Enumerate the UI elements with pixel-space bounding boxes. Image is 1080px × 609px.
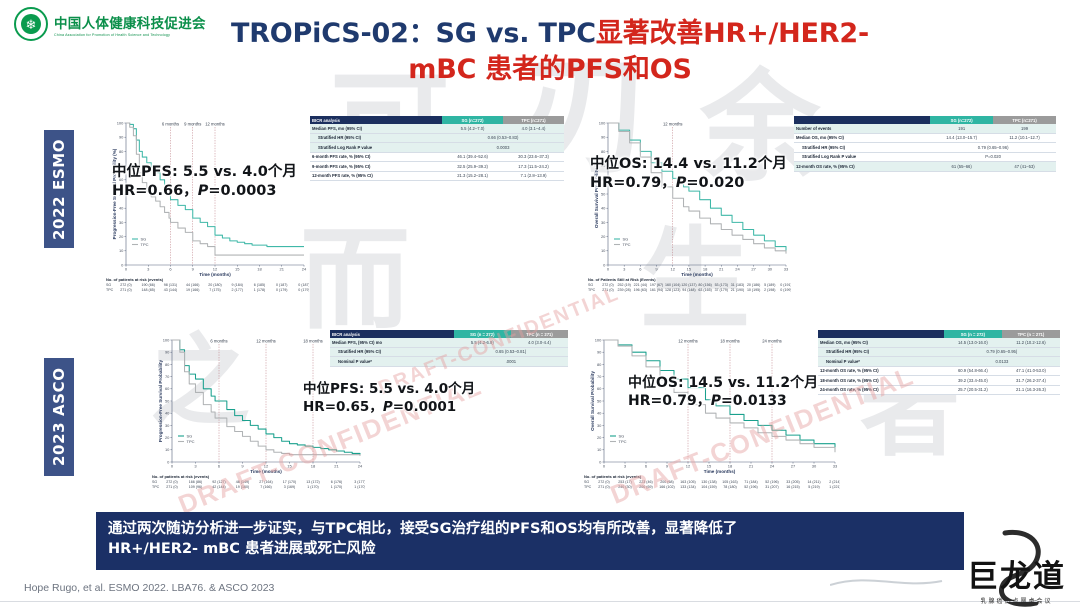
callout-esmo-pfs-line1: 中位PFS: 5.5 vs. 4.0个月 (112, 163, 297, 182)
table-header-cell: SG (n = 272) (454, 330, 511, 338)
svg-text:90: 90 (119, 135, 124, 140)
table-row: Nominal P value*0.0133 (818, 357, 1060, 366)
svg-text:40: 40 (119, 206, 124, 211)
svg-text:71 (184): 71 (184) (744, 480, 757, 484)
svg-text:272 (0): 272 (0) (602, 283, 613, 287)
brand-logo: 巨龙道 乳腺癌热点圆桌会议 (967, 562, 1066, 605)
svg-text:271 (0): 271 (0) (602, 288, 613, 292)
table-cell-value-span: .0001 (454, 357, 568, 366)
svg-text:24: 24 (302, 267, 307, 272)
svg-text:9: 9 (241, 464, 244, 469)
svg-text:33 (205): 33 (205) (786, 480, 799, 484)
table-row: Median PFS, mo (95% CI)5.5 (4.2–7.0)4.0 … (310, 124, 564, 133)
svg-text:9 months: 9 months (184, 122, 201, 127)
table-row-label: 24-month OS rate, % (95% CI) (818, 385, 944, 394)
svg-text:271 (0): 271 (0) (166, 485, 177, 489)
svg-text:10: 10 (601, 248, 606, 253)
svg-text:100: 100 (117, 120, 124, 125)
svg-text:0 (191): 0 (191) (780, 283, 791, 287)
table-row-label: 12-month OS rate, % (95% CI) (794, 162, 930, 171)
svg-text:100: 100 (163, 337, 170, 342)
svg-text:1 (178): 1 (178) (254, 288, 265, 292)
svg-text:12: 12 (213, 267, 218, 272)
svg-text:1 (170): 1 (170) (307, 485, 318, 489)
svg-text:20: 20 (165, 435, 170, 440)
svg-text:16 (215): 16 (215) (786, 485, 799, 489)
svg-text:271 (0): 271 (0) (120, 288, 131, 292)
svg-text:42 (144): 42 (144) (212, 485, 225, 489)
table-header-cell: SG (n=272) (442, 116, 503, 124)
organization-logo: ❄ 中国人体健康科技促进会 China Association for Prom… (14, 7, 206, 41)
table-cell-sg: 60.9 (54.8-66.4) (944, 366, 1002, 375)
table-row: 12-month OS rate, % (95% CI)60.9 (54.8-6… (818, 366, 1060, 375)
table-row: Stratified HR (95% CI)0.66 (0.53–0.83) (310, 133, 564, 142)
svg-text:80: 80 (165, 362, 170, 367)
svg-text:0: 0 (599, 459, 602, 464)
svg-text:24: 24 (770, 464, 775, 469)
svg-text:197 (67): 197 (67) (650, 283, 663, 287)
svg-text:70: 70 (165, 374, 170, 379)
svg-text:90: 90 (601, 135, 606, 140)
table-cell-tpc: 4.0 (3.0-4.4) (511, 338, 568, 347)
svg-text:100: 100 (599, 120, 606, 125)
green-circle-flower-logo-icon: ❄ (14, 7, 48, 41)
svg-text:15: 15 (687, 267, 692, 272)
svg-text:0: 0 (603, 262, 606, 267)
svg-text:TPC: TPC (619, 439, 627, 444)
svg-text:12 months: 12 months (205, 122, 225, 127)
table-cell-tpc: 47.1 (41.0-53.0) (1002, 366, 1060, 375)
brand-logo-text: 巨龙道 (967, 562, 1066, 593)
svg-text:24: 24 (358, 464, 363, 469)
table-cell-sg: 14.5 (13.0-16.0) (944, 338, 1002, 347)
svg-text:240 (30): 240 (30) (618, 485, 631, 489)
svg-text:TPC: TPC (152, 485, 160, 489)
svg-text:7 (175): 7 (175) (209, 288, 220, 292)
svg-text:30: 30 (119, 220, 124, 225)
svg-text:7 (166): 7 (166) (260, 485, 271, 489)
table-cell-sg: 5.5 (4.2-6.9) (454, 338, 511, 347)
table-cell-value-span: 0.79 (0.65–0.96) (930, 143, 1056, 152)
svg-text:0: 0 (167, 459, 170, 464)
svg-text:105 (163): 105 (163) (722, 480, 737, 484)
table-cell-tpc: 11.2 (10.2-12.6) (1002, 338, 1060, 347)
svg-text:10: 10 (165, 447, 170, 452)
svg-text:SG: SG (141, 237, 147, 242)
svg-text:12 months: 12 months (663, 122, 683, 127)
table-header-cell: SG (n=272) (930, 116, 993, 124)
svg-text:133 (134): 133 (134) (680, 485, 695, 489)
svg-text:9: 9 (666, 464, 669, 469)
km-curve-esmo-os: 0102030405060708090100036912151821242730… (586, 113, 791, 309)
svg-text:13 (172): 13 (172) (306, 480, 319, 484)
svg-text:18: 18 (257, 267, 262, 272)
table-header-cell: TPC (n = 271) (1002, 330, 1060, 338)
chart-panel-esmo-pfs: 0102030405060708090100036912151821246 mo… (104, 113, 564, 309)
svg-text:70: 70 (597, 374, 602, 379)
svg-text:60: 60 (165, 386, 170, 391)
table-row: 24-month OS rate, % (95% CI)25.7 (20.5-3… (818, 385, 1060, 394)
table-row-label: Median OS, mo (95% CI) (794, 133, 930, 142)
svg-text:163 (105): 163 (105) (680, 480, 695, 484)
svg-text:5 (219): 5 (219) (808, 485, 819, 489)
footer-divider (0, 601, 1080, 602)
svg-text:239 (28): 239 (28) (617, 288, 630, 292)
sidebar-item-2022-esmo[interactable]: 2022 ESMO (44, 130, 74, 248)
table-cell-tpc: 199 (993, 124, 1056, 133)
svg-text:200 (69): 200 (69) (639, 485, 652, 489)
svg-text:SG: SG (588, 283, 593, 287)
svg-text:17 (170): 17 (170) (283, 480, 296, 484)
svg-text:44 (166): 44 (166) (186, 283, 199, 287)
table-cell-sg: 191 (930, 124, 993, 133)
organization-name-en: China Association for Promotion of Healt… (54, 33, 206, 37)
chart-panel-esmo-os: 0102030405060708090100036912151821242730… (586, 113, 1056, 309)
table-row-label: Stratified HR (95% CI) (310, 133, 442, 142)
svg-text:271 (0): 271 (0) (598, 485, 609, 489)
svg-text:24 months: 24 months (762, 339, 782, 344)
svg-text:160 (104): 160 (104) (665, 283, 680, 287)
svg-text:109 (96): 109 (96) (189, 485, 202, 489)
table-row: Median OS, mo (95% CI)14.5 (13.0-16.0)11… (818, 338, 1060, 347)
page-title: TROPiCS-02：SG vs. TPC显著改善HR+/HER2- mBC 患… (190, 16, 910, 87)
svg-text:TPC: TPC (623, 242, 631, 247)
table-row-label: Median PFS, (95% CI) mo (330, 338, 454, 347)
svg-text:20 (186): 20 (186) (747, 283, 760, 287)
svg-text:223 (46): 223 (46) (639, 480, 652, 484)
svg-text:SG: SG (619, 434, 625, 439)
svg-text:3 (169): 3 (169) (284, 485, 295, 489)
table-row-label: Number of events (794, 124, 930, 133)
svg-text:166 (102): 166 (102) (659, 485, 674, 489)
svg-text:SG: SG (187, 434, 193, 439)
svg-text:33: 33 (784, 267, 789, 272)
svg-text:30: 30 (165, 423, 170, 428)
svg-text:0: 0 (125, 267, 128, 272)
svg-text:TPC: TPC (187, 439, 195, 444)
table-row: 6-month PFS rate, % (95% CI)46.1 (39.4–5… (310, 152, 564, 161)
brand-logo-subtitle: 乳腺癌热点圆桌会议 (967, 596, 1066, 605)
svg-text:50: 50 (165, 398, 170, 403)
svg-text:128 (123): 128 (123) (665, 288, 680, 292)
table-cell-tpc: 7.1 (2.8–13.9) (503, 171, 564, 180)
table-cell-value-span: 0.65 (0.53–0.81) (454, 347, 568, 356)
svg-text:3: 3 (147, 267, 150, 272)
table-row-label: Stratified HR (95% CI) (818, 347, 944, 356)
svg-text:272 (0): 272 (0) (598, 480, 609, 484)
svg-text:19 (160): 19 (160) (236, 485, 249, 489)
svg-text:92 (127): 92 (127) (212, 480, 225, 484)
svg-text:6: 6 (639, 267, 642, 272)
svg-text:10: 10 (119, 248, 124, 253)
table-header-cell: TPC (n=271) (503, 116, 564, 124)
stats-table-esmo-pfs: BICR analysisSG (n=272)TPC (n=271)Median… (310, 116, 564, 181)
table-cell-sg: 46.1 (39.4–52.6) (442, 152, 503, 161)
table-row-label: Nominal P value* (330, 357, 454, 366)
table-row: Stratified HR (95% CI)0.79 (0.65–0.95) (818, 347, 1060, 356)
svg-text:60: 60 (597, 386, 602, 391)
svg-text:0 (187): 0 (187) (298, 283, 309, 287)
svg-text:1 (170): 1 (170) (354, 485, 365, 489)
svg-text:37 (179): 37 (179) (715, 288, 728, 292)
table-cell-tpc: 47 (41–53) (993, 162, 1056, 171)
table-header-cell: BICR analysis (310, 116, 442, 124)
table-row: Stratified Log Rank P valueP=0.020 (794, 152, 1056, 161)
svg-text:12: 12 (671, 267, 676, 272)
svg-text:40: 40 (597, 411, 602, 416)
svg-text:0 (179): 0 (179) (276, 288, 287, 292)
table-header-cell: BICR analysis (330, 330, 454, 338)
footer-citation: Hope Rugo, et al. ESMO 2022. LBA76. & AS… (24, 582, 274, 594)
svg-text:No. of Patients Still at Risk: No. of Patients Still at Risk (Events) (588, 277, 656, 282)
table-cell-sg: 32.5 (25.9–39.2) (442, 162, 503, 171)
table-row-label: Median OS, mo (95% CI) (818, 338, 944, 347)
svg-text:2 (198): 2 (198) (764, 288, 775, 292)
svg-text:0: 0 (603, 464, 606, 469)
callout-esmo-os: 中位OS: 14.4 vs. 11.2个月 HR=0.79，P=0.020 (590, 155, 787, 193)
stats-table-asco-pfs: BICR analysisSG (n = 272)TPC (n = 271)Me… (330, 330, 568, 367)
svg-text:6: 6 (645, 464, 648, 469)
svg-text:40: 40 (165, 411, 170, 416)
callout-asco-pfs-line2: HR=0.65，P=0.0001 (303, 399, 475, 417)
svg-text:Time (months): Time (months) (681, 272, 713, 277)
svg-text:98 (131): 98 (131) (164, 283, 177, 287)
svg-text:221 (44): 221 (44) (634, 283, 647, 287)
svg-text:SG: SG (106, 283, 111, 287)
svg-text:80: 80 (597, 362, 602, 367)
svg-text:6 (185): 6 (185) (254, 283, 265, 287)
slide-header: ❄ 中国人体健康科技促进会 China Association for Prom… (0, 0, 1080, 104)
svg-text:Time (months): Time (months) (250, 469, 282, 474)
svg-text:3 (177): 3 (177) (354, 480, 365, 484)
table-row: Nominal P value*.0001 (330, 357, 568, 366)
svg-text:80 (156): 80 (156) (698, 283, 711, 287)
svg-text:50: 50 (597, 398, 602, 403)
table-cell-tpc: 31.7 (26.2-37.4) (1002, 376, 1060, 385)
svg-text:0 (179): 0 (179) (298, 288, 309, 292)
svg-text:15: 15 (235, 267, 240, 272)
table-row-label: Stratified HR (95% CI) (330, 347, 454, 356)
svg-text:53 (173): 53 (173) (715, 283, 728, 287)
svg-text:78 (180): 78 (180) (723, 485, 736, 489)
callout-esmo-os-line2: HR=0.79，P=0.020 (590, 174, 787, 193)
svg-text:6 months: 6 months (210, 339, 227, 344)
svg-text:90: 90 (165, 350, 170, 355)
svg-text:Time (months): Time (months) (704, 469, 736, 474)
svg-text:43 (144): 43 (144) (164, 288, 177, 292)
callout-asco-pfs-line1: 中位PFS: 5.5 vs. 4.0个月 (303, 381, 475, 399)
svg-text:TPC: TPC (588, 288, 596, 292)
svg-text:48 (149): 48 (149) (236, 480, 249, 484)
svg-text:200 (68): 200 (68) (660, 480, 673, 484)
svg-text:SG: SG (584, 480, 589, 484)
svg-text:5 (189): 5 (189) (764, 283, 775, 287)
callout-esmo-os-line1: 中位OS: 14.4 vs. 11.2个月 (590, 155, 787, 174)
table-cell-sg: 39.2 (33.4-45.0) (944, 376, 1002, 385)
svg-text:196 (63): 196 (63) (634, 288, 647, 292)
stats-table-esmo-os: SG (n=272)TPC (n=271)Number of events191… (794, 116, 1056, 172)
svg-text:18: 18 (728, 464, 733, 469)
svg-text:18 months: 18 months (720, 339, 740, 344)
svg-text:104 (159): 104 (159) (701, 485, 716, 489)
svg-text:SG: SG (623, 237, 629, 242)
svg-text:30: 30 (768, 267, 773, 272)
table-header-cell (794, 116, 930, 124)
svg-text:190 (66): 190 (66) (142, 283, 155, 287)
svg-text:3: 3 (194, 464, 197, 469)
svg-text:12: 12 (264, 464, 269, 469)
svg-text:161 (94): 161 (94) (650, 288, 663, 292)
table-row: Median PFS, (95% CI) mo5.5 (4.2-6.9)4.0 … (330, 338, 568, 347)
table-row-label: Nominal P value* (818, 357, 944, 366)
svg-text:0: 0 (121, 262, 124, 267)
svg-text:18: 18 (311, 464, 316, 469)
svg-text:30: 30 (812, 464, 817, 469)
svg-text:9: 9 (655, 267, 658, 272)
table-row-label: Median PFS, mo (95% CI) (310, 124, 442, 133)
table-row: Stratified HR (95% CI)0.79 (0.65–0.96) (794, 143, 1056, 152)
svg-text:52 (196): 52 (196) (744, 485, 757, 489)
table-cell-tpc: 30.3 (23.6–37.3) (503, 152, 564, 161)
table-row-label: 6-month PFS rate, % (95% CI) (310, 152, 442, 161)
callout-asco-os: 中位OS: 14.5 vs. 11.2个月 HR=0.79，P=0.0133 (628, 374, 818, 410)
table-cell-value-span: 0.66 (0.53–0.83) (442, 133, 564, 142)
svg-text:18: 18 (703, 267, 708, 272)
svg-text:TPC: TPC (106, 288, 114, 292)
table-cell-value-span: 0.79 (0.65–0.95) (944, 347, 1060, 356)
svg-text:Time (months): Time (months) (199, 272, 231, 277)
sidebar-item-2023-asco[interactable]: 2023 ASCO (44, 358, 74, 476)
svg-text:21: 21 (749, 464, 754, 469)
svg-text:130 (138): 130 (138) (701, 480, 716, 484)
callout-esmo-pfs-line2: HR=0.66，P=0.0003 (112, 182, 297, 201)
svg-text:80: 80 (601, 149, 606, 154)
svg-text:2 (177): 2 (177) (232, 288, 243, 292)
callout-asco-os-line1: 中位OS: 14.5 vs. 11.2个月 (628, 374, 818, 392)
chart-panel-asco-os: 0102030405060708090100036912151821242730… (582, 330, 1060, 506)
svg-text:27: 27 (751, 267, 756, 272)
conclusion-line-2: HR+/HER2- mBC 患者进展或死亡风险 (108, 539, 954, 559)
table-cell-sg: 25.7 (20.5-31.2) (944, 385, 1002, 394)
title-line-2: mBC 患者的PFS和OS (190, 52, 910, 88)
table-row-label: Stratified HR (95% CI) (794, 143, 930, 152)
stats-table-asco-os: SG (n = 272)TPC (n = 271)Median OS, mo (… (818, 330, 1060, 395)
svg-text:6 (176): 6 (176) (331, 480, 342, 484)
svg-text:40: 40 (601, 206, 606, 211)
table-row: Median OS, mo (95% CI)14.4 (13.0–15.7)11… (794, 133, 1056, 142)
svg-text:21: 21 (280, 267, 285, 272)
svg-text:14 (211): 14 (211) (807, 480, 820, 484)
table-row-label: 18-month OS rate, % (95% CI) (818, 376, 944, 385)
svg-text:Progression-Free Survival Prob: Progression-Free Survival Probability (158, 359, 163, 442)
svg-text:21: 21 (719, 267, 724, 272)
callout-asco-pfs: 中位PFS: 5.5 vs. 4.0个月 HR=0.65，P=0.0001 (303, 381, 475, 416)
svg-text:18 months: 18 months (303, 339, 323, 344)
svg-text:252 (19): 252 (19) (617, 283, 630, 287)
table-cell-value-span: 0.0133 (944, 357, 1060, 366)
svg-text:94 (148): 94 (148) (682, 288, 695, 292)
svg-text:15: 15 (287, 464, 292, 469)
svg-text:33: 33 (833, 464, 838, 469)
table-row: Stratified HR (95% CI)0.65 (0.53–0.81) (330, 347, 568, 356)
table-header-cell: TPC (n = 271) (511, 330, 568, 338)
title-segment-red: 显著改善HR+/HER2- (596, 18, 869, 49)
table-row: 12-month PFS rate, % (95% CI)21.3 (15.2–… (310, 171, 564, 180)
km-curve-asco-os: 0102030405060708090100036912151821242730… (582, 330, 840, 506)
table-row-label: 9-month PFS rate, % (95% CI) (310, 162, 442, 171)
callout-asco-os-line2: HR=0.79，P=0.0133 (628, 392, 818, 410)
table-cell-sg: 21.3 (15.2–28.1) (442, 171, 503, 180)
svg-text:148 (85): 148 (85) (142, 288, 155, 292)
svg-text:20 (180): 20 (180) (208, 283, 221, 287)
svg-text:30: 30 (601, 220, 606, 225)
svg-text:9: 9 (192, 267, 195, 272)
table-header-cell (818, 330, 944, 338)
table-cell-value-span: 0.0003 (442, 143, 564, 152)
svg-text:No. of patients at risk (event: No. of patients at risk (events) (106, 277, 164, 282)
svg-text:0: 0 (607, 267, 610, 272)
svg-text:30: 30 (597, 423, 602, 428)
table-cell-tpc: 21.1 (16.3-26.3) (1002, 385, 1060, 394)
svg-text:20: 20 (597, 435, 602, 440)
svg-text:21: 21 (334, 464, 339, 469)
svg-text:TPC: TPC (584, 485, 592, 489)
svg-text:120 (137): 120 (137) (681, 283, 696, 287)
svg-text:6: 6 (218, 464, 221, 469)
svg-text:21 (190): 21 (190) (731, 288, 744, 292)
svg-text:3: 3 (624, 464, 627, 469)
table-cell-tpc: 17.3 (11.5–24.2) (503, 162, 564, 171)
table-row: Stratified Log Rank P value0.0003 (310, 143, 564, 152)
chart-panel-asco-pfs: 0102030405060708090100036912151821246 mo… (150, 330, 570, 506)
table-row: 9-month PFS rate, % (95% CI)32.5 (25.9–3… (310, 162, 564, 171)
svg-text:10 (195): 10 (195) (747, 288, 760, 292)
svg-text:12 months: 12 months (678, 339, 698, 344)
svg-text:31 (183): 31 (183) (731, 283, 744, 287)
svg-text:3: 3 (623, 267, 626, 272)
svg-text:12: 12 (686, 464, 691, 469)
table-cell-tpc: 4.0 (3.1–4.4) (503, 124, 564, 133)
svg-text:80: 80 (119, 149, 124, 154)
table-cell-sg: 14.4 (13.0–15.7) (930, 133, 993, 142)
table-row: Number of events191199 (794, 124, 1056, 133)
svg-text:272 (0): 272 (0) (166, 480, 177, 484)
table-header-cell: SG (n = 272) (944, 330, 1002, 338)
svg-text:6: 6 (169, 267, 172, 272)
svg-text:No. of patients at risk (event: No. of patients at risk (events) (152, 474, 210, 479)
svg-text:1 (221): 1 (221) (829, 485, 840, 489)
svg-text:12 months: 12 months (256, 339, 276, 344)
svg-text:166 (86): 166 (86) (189, 480, 202, 484)
table-row-label: Stratified Log Rank P value (310, 143, 442, 152)
svg-text:272 (0): 272 (0) (120, 283, 131, 287)
svg-text:No. of patients at risk (event: No. of patients at risk (events) (584, 474, 642, 479)
title-segment-navy: TROPiCS-02：SG vs. TPC (231, 18, 596, 49)
svg-text:52 (196): 52 (196) (765, 480, 778, 484)
svg-text:0 (187): 0 (187) (276, 283, 287, 287)
table-row: 18-month OS rate, % (95% CI)39.2 (33.4-4… (818, 376, 1060, 385)
svg-text:63 (165): 63 (165) (698, 288, 711, 292)
svg-text:Overall Survival Probability: Overall Survival Probability (590, 371, 595, 431)
conclusion-line-1: 通过两次随访分析进一步证实，与TPC相比，接受SG治疗组的PFS和OS均有所改善… (108, 519, 954, 539)
svg-text:253 (17): 253 (17) (618, 480, 631, 484)
svg-text:31 (207): 31 (207) (765, 485, 778, 489)
svg-text:15: 15 (707, 464, 712, 469)
km-curve-esmo-pfs: 0102030405060708090100036912151821246 mo… (104, 113, 309, 309)
svg-text:1 (170): 1 (170) (331, 485, 342, 489)
svg-text:20: 20 (601, 234, 606, 239)
svg-text:19 (166): 19 (166) (186, 288, 199, 292)
